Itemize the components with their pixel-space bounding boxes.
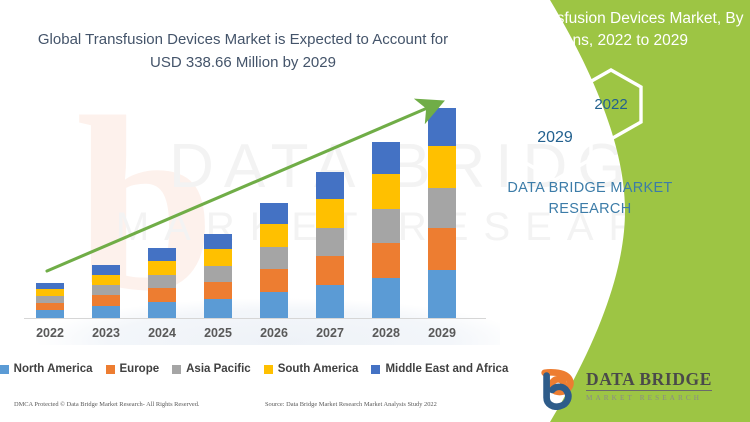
legend-label: North America	[14, 363, 93, 375]
bar-segment	[372, 142, 400, 174]
bar-segment	[260, 269, 288, 292]
bar-segment	[316, 285, 344, 318]
footer-copyright: DMCA Protected © Data Bridge Market Rese…	[14, 401, 200, 408]
bar-segment	[148, 261, 176, 275]
stacked-bar	[36, 283, 64, 318]
growth-arrow-icon	[0, 90, 500, 322]
legend-swatch-icon	[106, 365, 115, 374]
brand-panel: Global Transfusion Devices Market, By Re…	[430, 0, 750, 422]
infographic-canvas: b DATA BRIDGE MARKET RESEARCH Global Tra…	[0, 0, 750, 422]
bar-segment	[372, 243, 400, 278]
bar-segment	[148, 288, 176, 302]
legend-item[interactable]: Asia Pacific	[172, 363, 251, 375]
x-axis-tick-2026: 2026	[246, 326, 302, 340]
bar-segment	[36, 296, 64, 303]
bar-segment	[36, 303, 64, 310]
brand-name-line-1: DATA BRIDGE MARKET	[430, 178, 750, 199]
bar-segment	[316, 199, 344, 228]
bar-segment	[204, 234, 232, 249]
bar-segment	[204, 282, 232, 299]
stacked-bar	[260, 203, 288, 318]
legend-swatch-icon	[264, 365, 273, 374]
bar-segment	[316, 172, 344, 199]
hexagon-2029-label: 2029	[523, 129, 587, 147]
x-axis-tick-2023: 2023	[78, 326, 134, 340]
footer: DMCA Protected © Data Bridge Market Rese…	[0, 398, 500, 418]
stacked-bar	[372, 142, 400, 318]
stacked-bar	[148, 248, 176, 318]
x-axis-tick-2024: 2024	[134, 326, 190, 340]
stacked-bar-chart	[0, 90, 500, 322]
stacked-bar	[204, 234, 232, 318]
x-axis-tick-2028: 2028	[358, 326, 414, 340]
legend-swatch-icon	[371, 365, 380, 374]
legend-swatch-icon	[172, 365, 181, 374]
page-title: Global Transfusion Devices Market is Exp…	[24, 28, 462, 74]
headline-line-1: Global Transfusion Devices Market is Exp…	[24, 28, 462, 51]
x-axis-tick-2025: 2025	[190, 326, 246, 340]
bar-segment	[204, 249, 232, 266]
headline-line-2: USD 338.66 Million by 2029	[24, 51, 462, 74]
x-axis-tick-2022: 2022	[22, 326, 78, 340]
stacked-bar	[316, 172, 344, 318]
legend-item[interactable]: South America	[264, 363, 359, 375]
x-axis-tick-2027: 2027	[302, 326, 358, 340]
logo-wordmark: DATA BRIDGE MARKET RESEARCH	[586, 370, 736, 402]
hexagon-2022-label: 2022	[582, 96, 640, 113]
bar-segment	[92, 306, 120, 318]
legend-label: South America	[278, 363, 359, 375]
logo-title: DATA BRIDGE	[586, 370, 712, 391]
legend-item[interactable]: Europe	[106, 363, 160, 375]
bar-segment	[204, 299, 232, 318]
footer-source: Source: Data Bridge Market Research Mark…	[265, 401, 437, 408]
bar-segment	[148, 248, 176, 261]
bar-segment	[316, 228, 344, 256]
brand-name-line-2: RESEARCH	[430, 199, 750, 220]
legend-swatch-icon	[0, 365, 9, 374]
chart-legend: North AmericaEuropeAsia PacificSouth Ame…	[24, 357, 484, 381]
bar-segment	[316, 256, 344, 285]
bar-segment	[372, 174, 400, 209]
bar-segment	[204, 266, 232, 282]
bar-segment	[148, 275, 176, 288]
data-bridge-mark-icon	[538, 368, 580, 410]
company-logo: DATA BRIDGE MARKET RESEARCH	[538, 366, 738, 412]
bar-segment	[260, 292, 288, 318]
bar-segment	[148, 302, 176, 318]
logo-subtitle: MARKET RESEARCH	[586, 394, 736, 402]
stacked-bar	[92, 265, 120, 318]
bar-segment	[92, 285, 120, 295]
legend-item[interactable]: North America	[0, 363, 93, 375]
bar-segment	[372, 278, 400, 318]
x-axis-labels: 20222023202420252026202720282029	[0, 326, 500, 348]
bar-segment	[260, 203, 288, 224]
bar-segment	[260, 247, 288, 269]
bar-segment	[260, 224, 288, 247]
bar-segment	[92, 265, 120, 275]
x-axis-line	[24, 318, 486, 319]
legend-label: Asia Pacific	[186, 363, 251, 375]
legend-label: Europe	[120, 363, 160, 375]
bar-segment	[36, 310, 64, 318]
bar-segment	[36, 289, 64, 296]
panel-content: Global Transfusion Devices Market, By Re…	[430, 0, 750, 422]
bar-segment	[92, 275, 120, 285]
bar-segment	[372, 209, 400, 243]
brand-name: DATA BRIDGE MARKET RESEARCH	[430, 178, 750, 220]
bar-segment	[92, 295, 120, 306]
